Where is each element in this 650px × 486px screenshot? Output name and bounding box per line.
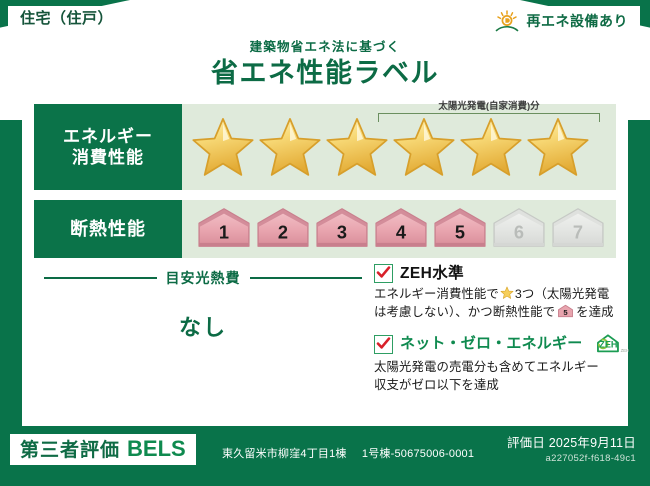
bels-certification-mark: 第三者評価 BELS <box>10 434 196 465</box>
zeh-standard-item: ZEH水準 エネルギー消費性能で3つ（太陽光発電 は考慮しない）、かつ断熱性能で… <box>374 264 620 321</box>
star-filled-icon <box>458 115 524 179</box>
category-tab: 住宅（住戸） <box>8 6 125 34</box>
building-number: 1号棟-50675006-0001 <box>362 448 474 460</box>
star-filled-icon <box>391 115 457 179</box>
zeh-standard-header: ZEH水準 <box>374 264 620 283</box>
star-filled-icon <box>525 115 591 179</box>
energy-rating-body: 太陽光発電(自家消費)分 <box>182 104 616 190</box>
zeh-desc-part3: を達成 <box>576 305 613 319</box>
footer: 第三者評価 BELS 東久留米市柳窪4丁目1棟 1号棟-50675006-000… <box>0 428 650 486</box>
nze-desc-line2: 収支がゼロ以下を達成 <box>374 378 499 392</box>
star-filled-icon <box>257 115 323 179</box>
nze-desc-line1: 太陽光発電の売電分も含めてエネルギー <box>374 360 599 374</box>
net-zero-energy-item: ネット・ゼロ・エネルギー ZEH ZEH 太陽光発電の売電分も含めてエネルギー … <box>374 332 620 394</box>
main-panel: エネルギー 消費性能 太陽光発電(自家消費)分 断熱性能 1234567 <box>22 96 628 426</box>
title-main: 省エネ性能ラベル <box>0 57 650 91</box>
label-title: 建築物省エネ法に基づく 省エネ性能ラベル <box>0 40 650 91</box>
insulation-house-filled-icon: 5 <box>432 206 488 252</box>
net-zero-energy-header: ネット・ゼロ・エネルギー ZEH ZEH <box>374 332 620 356</box>
energy-header-line2: 消費性能 <box>63 147 153 168</box>
inline-house-level-icon: 5 <box>557 304 574 318</box>
insulation-house-filled-icon: 2 <box>255 206 311 252</box>
zeh-desc-part1: エネルギー消費性能で <box>374 287 499 301</box>
svg-text:4: 4 <box>396 223 407 243</box>
net-zero-energy-checkbox[interactable] <box>374 335 393 354</box>
svg-text:5: 5 <box>564 307 569 316</box>
insulation-level-scale: 1234567 <box>182 206 606 252</box>
energy-header-line1: エネルギー <box>63 126 153 147</box>
insulation-house-empty-icon: 6 <box>491 206 547 252</box>
property-address: 東久留米市柳窪4丁目1棟 1号棟-50675006-0001 <box>222 445 474 461</box>
zeh-standard-title: ZEH水準 <box>400 265 464 282</box>
energy-performance-header: エネルギー 消費性能 <box>34 104 182 190</box>
svg-text:5: 5 <box>455 223 465 243</box>
insulation-performance-row: 断熱性能 1234567 <box>34 200 616 258</box>
svg-text:7: 7 <box>573 223 583 243</box>
energy-performance-label: 住宅（住戸） 再エネ設備あり 建築物省エネ法に基づく 省エネ性能ラベル <box>0 0 650 486</box>
zeh-desc-starcount: 3つ（太陽光発電 <box>515 287 609 301</box>
title-rule-left <box>44 277 157 279</box>
solar-annotation-label: 太陽光発電(自家消費)分 <box>378 102 600 112</box>
svg-text:6: 6 <box>514 223 524 243</box>
evaluation-date: 評価日 2025年9月11日 <box>507 436 636 451</box>
net-zero-energy-description: 太陽光発電の売電分も含めてエネルギー 収支がゼロ以下を達成 <box>374 359 620 394</box>
estimated-utility-cost-value: なし <box>44 310 362 342</box>
estimated-utility-cost-title: 目安光熱費 <box>44 268 362 288</box>
title-rule-right <box>250 277 363 279</box>
insulation-rating-body: 1234567 <box>182 200 616 258</box>
star-rating <box>182 115 591 179</box>
star-filled-icon <box>324 115 390 179</box>
energy-performance-row: エネルギー 消費性能 太陽光発電(自家消費)分 <box>34 104 616 190</box>
insulation-house-filled-icon: 4 <box>373 206 429 252</box>
address-text: 東久留米市柳窪4丁目1棟 <box>222 448 347 460</box>
zeh-standard-checkbox[interactable] <box>374 264 393 283</box>
net-zero-energy-title: ネット・ゼロ・エネルギー <box>400 336 582 353</box>
evaluation-id: a227052f-f618-49c1 <box>507 453 636 464</box>
zeh-desc-part2: は考慮しない）、かつ断熱性能で <box>374 305 555 319</box>
zeh-standard-description: エネルギー消費性能で3つ（太陽光発電 は考慮しない）、かつ断熱性能で5を達成 <box>374 286 620 321</box>
zeh-house-logo-icon: ZEH ZEH <box>591 332 631 356</box>
insulation-house-filled-icon: 3 <box>314 206 370 252</box>
insulation-house-filled-icon: 1 <box>196 206 252 252</box>
renewable-badge-label: 再エネ設備あり <box>527 14 629 29</box>
svg-text:2: 2 <box>278 223 288 243</box>
sun-icon <box>494 10 520 34</box>
star-filled-icon <box>190 115 256 179</box>
insulation-house-empty-icon: 7 <box>550 206 606 252</box>
svg-text:ZEH: ZEH <box>621 348 630 353</box>
evaluation-info: 評価日 2025年9月11日 a227052f-f618-49c1 <box>507 436 636 464</box>
svg-text:3: 3 <box>337 223 347 243</box>
cost-title-text: 目安光熱費 <box>166 268 241 288</box>
inline-star-icon <box>500 286 514 300</box>
estimated-utility-cost-section: 目安光熱費 なし <box>44 268 362 342</box>
svg-text:ZEH: ZEH <box>600 340 618 350</box>
renewable-equipment-badge: 再エネ設備あり <box>486 6 641 38</box>
zeh-criteria-section: ZEH水準 エネルギー消費性能で3つ（太陽光発電 は考慮しない）、かつ断熱性能で… <box>374 264 620 405</box>
bels-japanese-label: 第三者評価 <box>20 441 120 460</box>
insulation-performance-header: 断熱性能 <box>34 200 182 258</box>
bels-logo-text: BELS <box>127 438 186 460</box>
svg-text:1: 1 <box>219 223 229 243</box>
title-subtitle: 建築物省エネ法に基づく <box>0 40 650 55</box>
